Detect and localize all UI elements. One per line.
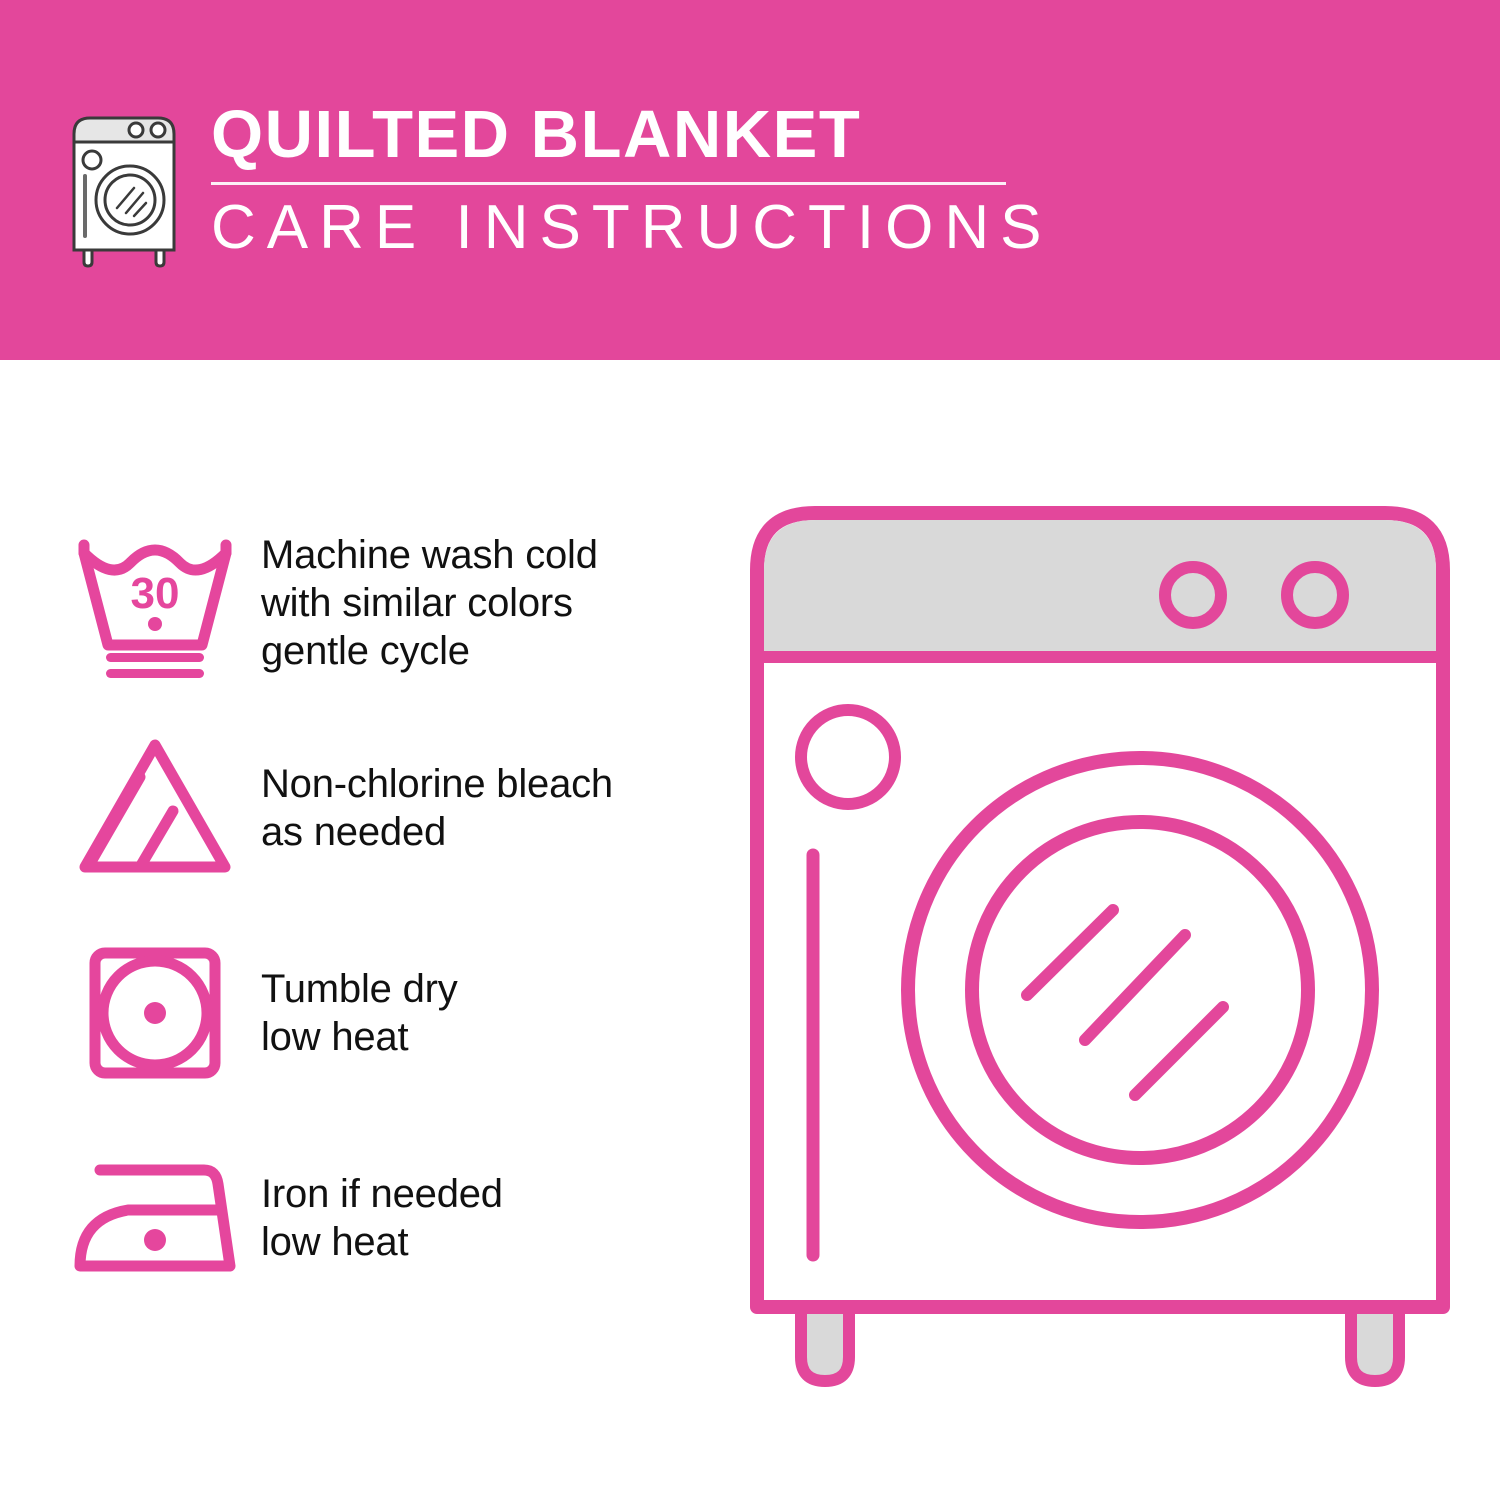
front-load-washing-machine-illustration bbox=[745, 495, 1455, 1415]
instruction-line: Iron if needed bbox=[261, 1170, 503, 1218]
header-content: QUILTED BLANKET CARE INSTRUCTIONS bbox=[62, 98, 1052, 268]
instruction-text-wash: Machine wash cold with similar colors ge… bbox=[245, 531, 598, 675]
instruction-line: low heat bbox=[261, 1013, 458, 1061]
instruction-line: gentle cycle bbox=[261, 627, 598, 675]
instruction-item-tumble-dry: Tumble dry low heat bbox=[70, 910, 710, 1115]
wash-temperature-label: 30 bbox=[131, 569, 180, 618]
instruction-line: with similar colors bbox=[261, 579, 598, 627]
instruction-item-wash: 30 Machine wash cold with similar colors… bbox=[70, 500, 710, 705]
header-title-group: QUILTED BLANKET CARE INSTRUCTIONS bbox=[211, 98, 1052, 263]
non-chlorine-bleach-triangle-icon bbox=[70, 733, 245, 883]
instruction-line: Machine wash cold bbox=[261, 531, 598, 579]
detergent-button bbox=[801, 710, 895, 804]
instruction-line: low heat bbox=[261, 1218, 503, 1266]
instruction-line: Tumble dry bbox=[261, 965, 458, 1013]
instruction-text-iron: Iron if needed low heat bbox=[245, 1170, 503, 1266]
instruction-item-bleach: Non-chlorine bleach as needed bbox=[70, 705, 710, 910]
instruction-line: Non-chlorine bleach bbox=[261, 760, 613, 808]
knob-right bbox=[1287, 567, 1343, 623]
wash-tub-30-gentle-icon: 30 bbox=[70, 523, 245, 683]
instruction-line: as needed bbox=[261, 808, 613, 856]
page-subtitle: CARE INSTRUCTIONS bbox=[211, 193, 1052, 263]
instruction-item-iron: Iron if needed low heat bbox=[70, 1115, 710, 1320]
washing-machine-icon bbox=[62, 108, 186, 268]
page-title: QUILTED BLANKET bbox=[211, 98, 1052, 172]
instruction-text-tumble-dry: Tumble dry low heat bbox=[245, 965, 458, 1061]
instruction-list: 30 Machine wash cold with similar colors… bbox=[70, 500, 710, 1320]
instruction-text-bleach: Non-chlorine bleach as needed bbox=[245, 760, 613, 856]
header-banner: QUILTED BLANKET CARE INSTRUCTIONS bbox=[0, 0, 1500, 360]
knob-left bbox=[1165, 567, 1221, 623]
iron-low-heat-icon bbox=[70, 1148, 245, 1288]
title-divider bbox=[211, 182, 1006, 185]
care-instructions-poster: QUILTED BLANKET CARE INSTRUCTIONS 30 bbox=[0, 0, 1500, 1500]
tumble-dry-low-icon bbox=[70, 938, 245, 1088]
